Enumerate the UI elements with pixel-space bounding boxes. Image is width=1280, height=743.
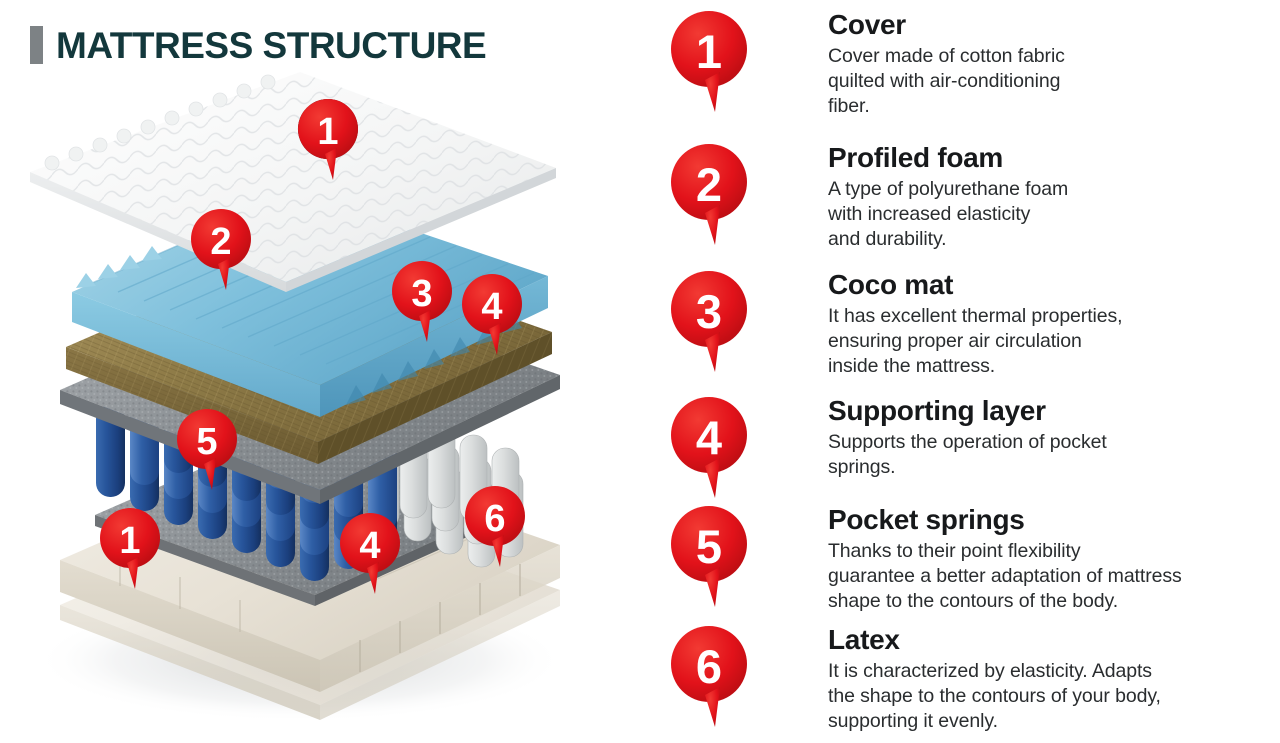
diagram-marker-6-latex[interactable]: 6 (464, 485, 526, 569)
legend-description: It has excellent thermal properties, ens… (828, 304, 1280, 379)
legend-text-block: Cover Cover made of cotton fabric quilte… (748, 10, 1280, 119)
diagram-marker-3-coco-mat[interactable]: 3 (391, 260, 453, 344)
legend-item-profiled-foam[interactable]: 2 Profiled foam A type of polyurethane f… (660, 143, 1280, 252)
legend-description: Thanks to their point flexibility guaran… (828, 539, 1280, 614)
legend-title: Coco mat (828, 270, 1280, 300)
diagram-marker-4-supporting-layer[interactable]: 4 (461, 273, 523, 357)
legend-pin-wrap: 1 (660, 10, 748, 119)
legend-pin-wrap: 2 (660, 143, 748, 252)
legend-description: A type of polyurethane foam with increas… (828, 177, 1280, 252)
legend-description: It is characterized by elasticity. Adapt… (828, 659, 1280, 734)
legend-pin-wrap: 4 (660, 396, 748, 480)
legend-marker-pin-6[interactable]: 6 (670, 625, 748, 729)
diagram-marker-5-pocket-springs[interactable]: 5 (176, 408, 238, 492)
legend-marker-pin-4[interactable]: 4 (670, 396, 748, 500)
legend-pin-wrap: 6 (660, 625, 748, 734)
page-header: MATTRESS STRUCTURE (30, 26, 486, 64)
diagram-marker-1-cover[interactable]: 1 (297, 98, 359, 182)
legend-marker-pin-2[interactable]: 2 (670, 143, 748, 247)
legend-title: Cover (828, 10, 1280, 40)
diagram-marker-4-supporting-layer-bottom[interactable]: 4 (339, 512, 401, 596)
legend-title: Latex (828, 625, 1280, 655)
mattress-exploded-diagram: 1 2 3 4 (0, 60, 650, 740)
legend-item-cover[interactable]: 1 Cover Cover made of cotton fabric quil… (660, 10, 1280, 119)
legend-item-supporting-layer[interactable]: 4 Supporting layer Supports the operatio… (660, 396, 1280, 480)
legend-item-latex[interactable]: 6 Latex It is characterized by elasticit… (660, 625, 1280, 734)
diagram-marker-2-profiled-foam[interactable]: 2 (190, 208, 252, 292)
legend-title: Pocket springs (828, 505, 1280, 535)
legend-marker-pin-3[interactable]: 3 (670, 270, 748, 374)
layer-legend-list: 1 Cover Cover made of cotton fabric quil… (660, 0, 1280, 743)
diagram-marker-1-cover-bottom[interactable]: 1 (99, 507, 161, 591)
legend-description: Supports the operation of pocket springs… (828, 430, 1280, 480)
legend-item-pocket-springs[interactable]: 5 Pocket springs Thanks to their point f… (660, 505, 1280, 614)
title-accent-bar (30, 26, 43, 64)
legend-pin-wrap: 5 (660, 505, 748, 614)
legend-description: Cover made of cotton fabric quilted with… (828, 44, 1280, 119)
legend-item-coco-mat[interactable]: 3 Coco mat It has excellent thermal prop… (660, 270, 1280, 379)
legend-text-block: Latex It is characterized by elasticity.… (748, 625, 1280, 734)
legend-title: Profiled foam (828, 143, 1280, 173)
legend-text-block: Pocket springs Thanks to their point fle… (748, 505, 1280, 614)
legend-text-block: Supporting layer Supports the operation … (748, 396, 1280, 480)
page-title: MATTRESS STRUCTURE (56, 27, 486, 64)
legend-pin-wrap: 3 (660, 270, 748, 379)
legend-marker-pin-5[interactable]: 5 (670, 505, 748, 609)
legend-title: Supporting layer (828, 396, 1280, 426)
legend-marker-pin-1[interactable]: 1 (670, 10, 748, 114)
legend-text-block: Coco mat It has excellent thermal proper… (748, 270, 1280, 379)
legend-text-block: Profiled foam A type of polyurethane foa… (748, 143, 1280, 252)
